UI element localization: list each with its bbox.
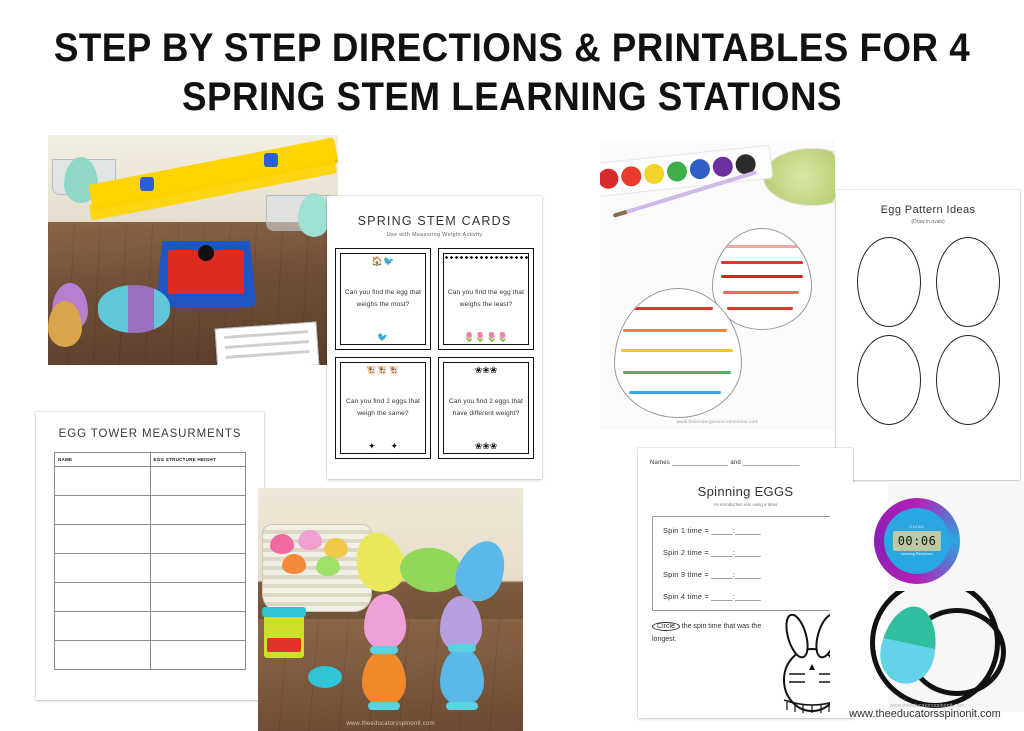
table-body	[55, 467, 246, 670]
egg-stripe	[727, 307, 793, 310]
cell-name[interactable]	[55, 496, 151, 525]
spin-time-field[interactable]: Spin 3 time = _____:______	[663, 570, 838, 579]
stopwatch[interactable]: CLEAR 00:06 Learning Resources	[874, 498, 960, 584]
pattern-oval[interactable]	[936, 237, 1000, 327]
stem-card: 🐮🐮🐮 Can you find 2 eggs that weigh the s…	[335, 357, 431, 459]
egg-stripe	[629, 391, 721, 394]
clear-button-label[interactable]: CLEAR	[910, 525, 925, 529]
cell-name[interactable]	[55, 467, 151, 496]
egg-stripe	[629, 307, 713, 310]
table-row[interactable]	[55, 612, 246, 641]
egg-stripe	[621, 349, 733, 352]
sheet-spinning-eggs: Names ________________ and _____________…	[638, 448, 853, 718]
cell-height[interactable]	[150, 612, 246, 641]
sheet-egg-tower-measurements: EGG TOWER MEASURMENTS NAME EGG STRUCTURE…	[36, 412, 264, 700]
flowers-icon-bottom: ❀❀❀	[444, 439, 528, 453]
brand-label: Learning Resources	[901, 553, 933, 557]
photo-stopwatch-timer: CLEAR 00:06 Learning Resources www.theed…	[830, 482, 1024, 712]
paint-pan	[689, 158, 711, 180]
stopwatch-face: CLEAR 00:06 Learning Resources	[884, 508, 950, 574]
card-text: Can you find the egg that weighs the mos…	[336, 287, 430, 310]
playdoh-label	[267, 638, 301, 652]
spin-sheet-subtitle: An introduction into using a timer	[638, 502, 853, 507]
table-row[interactable]	[55, 641, 246, 670]
table-row[interactable]	[55, 467, 246, 496]
cell-height[interactable]	[150, 554, 246, 583]
egg-stripe	[723, 291, 799, 294]
cell-height[interactable]	[150, 641, 246, 670]
tulips-icon: 🌷🌷🌷🌷	[444, 330, 528, 344]
stem-card: Can you find the egg that weighs the lea…	[438, 248, 534, 350]
stem-card-grid: 🏠🐦 Can you find the egg that weighs the …	[327, 238, 542, 459]
page-title: STEP BY STEP DIRECTIONS & PRINTABLES FOR…	[41, 24, 983, 122]
egg-tower-table: NAME EGG STRUCTURE HEIGHT	[54, 452, 246, 670]
tower-sheet-title: EGG TOWER MEASURMENTS	[36, 428, 264, 440]
scale-clip-right	[264, 153, 278, 167]
photo-egg-tower-structure: www.theeducatorsspinonit.com	[258, 488, 523, 731]
cell-name[interactable]	[55, 641, 151, 670]
paint-pan	[666, 161, 688, 183]
names-field[interactable]: Names ________________ and _____________…	[650, 460, 853, 466]
paint-pan	[620, 165, 642, 187]
basket-egg	[298, 530, 322, 550]
table-row[interactable]	[55, 583, 246, 612]
table-header-row: NAME EGG STRUCTURE HEIGHT	[55, 453, 246, 467]
site-watermark: www.theeducatorsspinonit.com	[826, 708, 1024, 720]
page-title-line-2: SPRING STEM LEARNING STATIONS	[41, 73, 983, 122]
stem-card: 🏠🐦 Can you find the egg that weighs the …	[335, 248, 431, 350]
column-header-name: NAME	[55, 453, 151, 467]
card-text: Can you find 2 eggs that weigh the same?	[336, 396, 430, 419]
flowers-icon-top: ❀❀❀	[444, 363, 528, 377]
stem-card-on-table	[215, 321, 320, 365]
egg-stripe	[623, 371, 731, 374]
pattern-sheet-title: Egg Pattern Ideas	[836, 204, 1020, 216]
egg-stripe	[721, 261, 803, 264]
table-row[interactable]	[55, 554, 246, 583]
cell-name[interactable]	[55, 583, 151, 612]
cell-height[interactable]	[150, 583, 246, 612]
photo-watermark: www.thekindergartenconnection.com	[600, 419, 835, 424]
basket-egg	[270, 534, 294, 554]
pattern-oval[interactable]	[857, 237, 921, 327]
stopwatch-display: 00:06	[893, 531, 941, 551]
card-text: Can you find the egg that weighs the lea…	[439, 287, 533, 310]
photo-watercolor-eggs: www.thekindergartenconnection.com	[600, 140, 835, 430]
playdoh-connector	[448, 644, 476, 652]
table-row[interactable]	[55, 496, 246, 525]
playdoh-lid	[262, 607, 306, 617]
basket-egg	[324, 538, 348, 558]
cell-height[interactable]	[150, 525, 246, 554]
scale-dial-knob	[198, 245, 214, 261]
bird-icon: 🐦	[341, 330, 425, 344]
paint-pan	[643, 163, 665, 185]
column-header-height: EGG STRUCTURE HEIGHT	[150, 453, 246, 467]
stem-cards-title: SPRING STEM CARDS	[327, 214, 542, 228]
card-text: Can you find 2 eggs that have different …	[439, 396, 533, 419]
egg-stripe	[721, 275, 803, 278]
cell-height[interactable]	[150, 496, 246, 525]
tower-egg-pink	[364, 594, 406, 650]
cell-height[interactable]	[150, 467, 246, 496]
egg-in-pan-right	[298, 193, 330, 237]
playdoh-blob	[308, 666, 342, 688]
tower-egg-green	[398, 545, 464, 595]
cell-name[interactable]	[55, 612, 151, 641]
pattern-oval[interactable]	[857, 335, 921, 425]
scale-clip-left	[140, 177, 154, 191]
stem-card: ❀❀❀ Can you find 2 eggs that have differ…	[438, 357, 534, 459]
pattern-oval[interactable]	[936, 335, 1000, 425]
egg-stripe	[623, 329, 727, 332]
cell-name[interactable]	[55, 554, 151, 583]
circled-word: Circle	[652, 622, 680, 631]
egg-striped	[98, 285, 170, 333]
paint-pan	[600, 168, 619, 190]
spin-instruction: Circle the spin time that was the longes…	[652, 621, 772, 647]
oval-grid	[836, 225, 1020, 425]
egg-stripe	[723, 245, 799, 248]
playdoh-connector	[446, 702, 478, 710]
basket-egg	[282, 554, 306, 574]
spin-sheet-title: Spinning EGGS	[638, 484, 853, 499]
spin-time-field[interactable]: Spin 1 time = _____:______	[663, 526, 838, 535]
spin-times-box: Spin 1 time = _____:______ Spin 2 time =…	[652, 516, 839, 611]
sheet-egg-pattern-ideas: Egg Pattern Ideas (Draw in ovals)	[836, 190, 1020, 480]
watercolor-paint-tray	[600, 145, 773, 198]
paint-pan	[712, 156, 734, 178]
paint-plate	[763, 148, 835, 206]
cell-name[interactable]	[55, 525, 151, 554]
dots-border-icon	[444, 255, 528, 259]
egg-gold	[48, 301, 82, 347]
photo-watermark: www.theeducatorsspinonit.com	[258, 721, 523, 727]
poster-canvas: STEP BY STEP DIRECTIONS & PRINTABLES FOR…	[0, 0, 1024, 731]
spin-time-field[interactable]: Spin 2 time = _____:______	[663, 548, 838, 557]
butterflies-icon: 🐮🐮🐮	[341, 363, 425, 377]
birdhouse-icon: 🏠🐦	[341, 254, 425, 268]
corner-swirls-icon: ✦ ✦	[341, 439, 425, 453]
playdoh-connector	[370, 646, 398, 654]
page-title-line-1: STEP BY STEP DIRECTIONS & PRINTABLES FOR…	[54, 26, 970, 70]
basket-egg	[316, 556, 340, 576]
table-row[interactable]	[55, 525, 246, 554]
spin-time-field[interactable]: Spin 4 time = _____:______	[663, 592, 838, 601]
playdoh-connector	[368, 702, 400, 710]
sheet-spring-stem-cards: SPRING STEM CARDS Use with Measuring Wei…	[327, 196, 542, 479]
playdoh-can	[264, 614, 304, 658]
photo-balance-scale	[48, 135, 338, 365]
